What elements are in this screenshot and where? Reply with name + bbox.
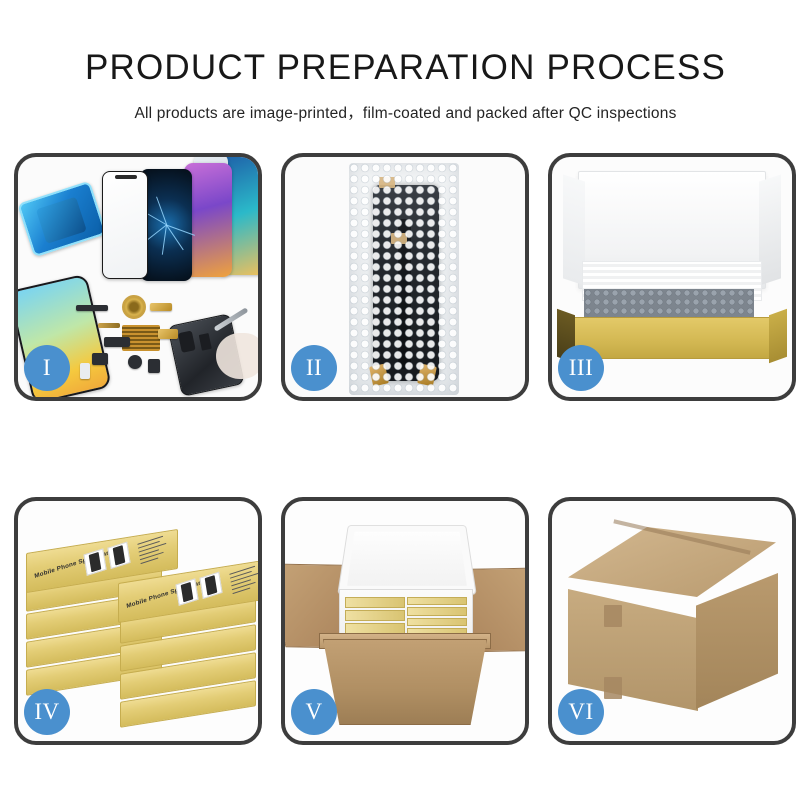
page-subtitle: All products are image-printed，film-coat… bbox=[0, 101, 811, 123]
gold-box bbox=[345, 610, 405, 621]
flex-cable-icon bbox=[158, 329, 178, 339]
box-product-image bbox=[175, 578, 198, 605]
step-panel-2: II bbox=[281, 153, 529, 401]
page-title: PRODUCT PREPARATION PROCESS bbox=[0, 48, 811, 88]
header: PRODUCT PREPARATION PROCESS All products… bbox=[0, 0, 811, 123]
flex-cable-icon bbox=[150, 303, 172, 311]
small-part-icon bbox=[80, 363, 90, 379]
hand-icon bbox=[216, 333, 258, 379]
gold-box bbox=[345, 597, 405, 608]
small-part-icon bbox=[92, 353, 108, 365]
gold-box bbox=[407, 607, 467, 615]
product-preparation-infographic: PRODUCT PREPARATION PROCESS All products… bbox=[0, 0, 811, 811]
step-panel-6: VI bbox=[548, 497, 796, 745]
small-part-icon bbox=[104, 337, 130, 347]
screen-protector-icon bbox=[102, 171, 148, 279]
carton-body bbox=[323, 639, 487, 725]
steps-grid: I II bbox=[14, 153, 797, 743]
step-panel-5: V bbox=[281, 497, 529, 745]
step-badge-4: IV bbox=[24, 689, 70, 735]
bubble-wrap-bag-icon bbox=[349, 163, 459, 395]
speaker-coil-icon bbox=[122, 295, 146, 319]
gold-box bbox=[407, 618, 467, 626]
bubble-texture bbox=[349, 163, 459, 395]
step-panel-1: I bbox=[14, 153, 262, 401]
step-panel-4: Mobile Phone Spare Parts Mobile Phone Sp… bbox=[14, 497, 262, 745]
carton-tape-lower bbox=[604, 677, 622, 699]
small-part-icon bbox=[76, 305, 108, 311]
foam-lid-icon bbox=[337, 525, 477, 595]
step-badge-6: VI bbox=[558, 689, 604, 735]
carton-tape-upper bbox=[604, 605, 622, 627]
camera-module-icon bbox=[128, 355, 142, 369]
battery-icon bbox=[148, 359, 160, 373]
box-product-image bbox=[83, 548, 106, 575]
box-spec-lines bbox=[137, 535, 170, 567]
box-product-image bbox=[199, 572, 222, 599]
box-spec-lines bbox=[229, 565, 258, 597]
step-badge-1: I bbox=[24, 345, 70, 391]
adhesive-frame-icon bbox=[18, 181, 107, 258]
step-badge-5: V bbox=[291, 689, 337, 735]
box-product-image bbox=[107, 542, 130, 569]
gold-box bbox=[407, 597, 467, 605]
step-panel-3: III bbox=[548, 153, 796, 401]
step-badge-2: II bbox=[291, 345, 337, 391]
box-base-icon bbox=[570, 317, 774, 359]
carton-side-face bbox=[696, 573, 778, 709]
step-badge-3: III bbox=[558, 345, 604, 391]
flex-cable-icon bbox=[98, 323, 120, 328]
